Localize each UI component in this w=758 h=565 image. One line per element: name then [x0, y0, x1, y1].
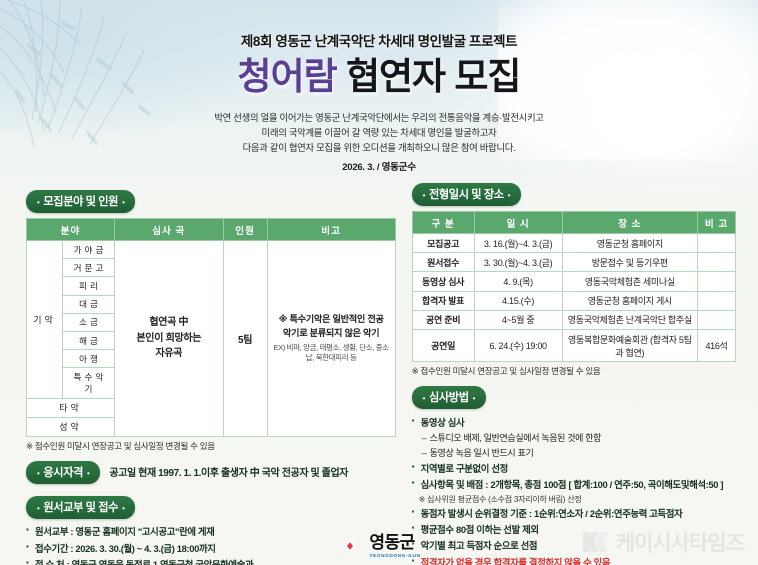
section-heading-eligibility: •응시자격• — [26, 461, 100, 484]
eligibility-text: 공고일 현재 1997. 1. 1.이후 출생자 中 국악 전공자 및 졸업자 — [109, 464, 348, 479]
schedule-kind: 모집공고 — [412, 234, 474, 253]
bullet-dot-icon: • — [423, 191, 425, 200]
song-cell: 협연곡 中 본인이 희망하는 자유곡 — [115, 241, 224, 437]
table-row: 공연 준비 4~5월 중 영동국악체험촌 난계국악단 합주실 — [412, 310, 735, 329]
schedule-remark: 416석 — [698, 330, 736, 362]
title-rest: 협연자 모집 — [346, 56, 520, 97]
remark-example: EX) 비파, 양금, 태평소, 생황, 단소, 중소납, 북한대피리 등 — [271, 343, 392, 364]
instrument-piri: 피리 — [63, 277, 115, 295]
bullet-dot-icon: • — [37, 469, 39, 478]
schedule-remark — [698, 234, 736, 253]
col-kind: 구 분 — [412, 212, 474, 234]
kicker-text: 제8회 영동군 난계국악단 차세대 명인발굴 프로젝트 — [0, 30, 758, 50]
judging-score-note: ※ 심사위원 평균점수 (소수점 3자리이하 버림) 산정 — [419, 494, 736, 505]
col-field: 분야 — [27, 219, 115, 241]
schedule-kind: 원서접수 — [412, 253, 474, 272]
schedule-place: 방문접수 및 등기우편 — [562, 253, 697, 272]
section-heading-judging-label: 심사방법 — [429, 392, 469, 404]
recruit-table: 분야 심사 곡 인원 비고 기악 가야금 협연곡 中 본인이 희망하는 자유곡 — [26, 218, 396, 437]
bullet-dot-icon: • — [122, 198, 124, 207]
schedule-date: 3. 30.(월)~4. 3.(금) — [474, 253, 562, 272]
song-line-2: 본인이 희망하는 — [136, 333, 201, 344]
judging-video-sub-2: 동영상 녹음 일시 반드시 표기 — [422, 447, 736, 461]
col-remark: 비고 — [267, 219, 395, 241]
bullet-dot-icon: • — [122, 504, 124, 513]
schedule-place: 영동국악체험촌 세미나실 — [562, 272, 697, 291]
col-datetime: 일 시 — [474, 212, 562, 234]
instrument-ajaeng: 아쟁 — [63, 350, 115, 368]
table-header-row: 구 분 일 시 장 소 비 고 — [412, 212, 735, 234]
lead-line-2: 미래의 국악계를 이끌어 갈 역량 있는 차세대 명인을 발굴하고자 — [262, 127, 497, 138]
eligibility-section: •응시자격• 공고일 현재 1997. 1. 1.이후 출생자 中 국악 전공자… — [26, 454, 396, 489]
schedule-place: 영동군청 홈페이지 게시 — [562, 291, 697, 310]
schedule-remark — [698, 253, 736, 272]
schedule-date: 6. 24.(수) 19:00 — [474, 330, 562, 362]
section-heading-application: •원서교부 및 접수• — [26, 496, 135, 519]
watermark: 케이시사타임즈 — [581, 527, 744, 557]
col-song: 심사 곡 — [115, 219, 224, 241]
schedule-remark — [698, 272, 736, 291]
title-highlight: 청어람 — [238, 56, 337, 97]
schedule-footnote: ※ 접수인원 미달시 연장공고 및 심사일정 변경될 수 있음 — [412, 365, 736, 377]
bullet-dot-icon: • — [473, 394, 475, 403]
schedule-table: 구 분 일 시 장 소 비 고 모집공고 3. 16.(월)~4. 3.(금) … — [412, 211, 736, 362]
schedule-kind: 공연 준비 — [412, 310, 474, 329]
section-heading-schedule-label: 전형일시 및 장소 — [429, 189, 504, 201]
instrument-daegeum: 대금 — [63, 295, 115, 313]
section-heading-eligibility-label: 응시자격 — [43, 467, 83, 479]
judging-score-breakdown: 심사항목 및 배점 : 2개항목, 총점 100점 [ 합계:100 / 연주:… — [412, 478, 736, 493]
watermark-text: 케이시사타임즈 — [616, 527, 744, 557]
judging-tiebreak-rule: 동점자 발생시 순위결정 기준 : 1순위:연소자 / 2순위:연주능력 고득점… — [412, 507, 736, 522]
lead-line-1: 박연 선생의 얼을 이어가는 영동군 난계국악단에서는 우리의 전통음악을 계승… — [214, 112, 543, 123]
section-heading-application-label: 원서교부 및 접수 — [43, 502, 118, 514]
instrument-geomungo: 거문고 — [63, 259, 115, 277]
schedule-remark — [698, 291, 736, 310]
schedule-place: 영동군청 홈페이지 — [562, 234, 697, 253]
table-row: 공연일 6. 24.(수) 19:00 영동복합문화예술회관 (합격자 5팀과 … — [412, 330, 735, 362]
table-row: 원서접수 3. 30.(월)~4. 3.(금) 방문접수 및 등기우편 — [412, 253, 735, 272]
logo-emblem-icon — [337, 533, 363, 559]
table-row: 동영상 심사 4. 9.(목) 영동국악체험촌 세미나실 — [412, 272, 735, 291]
song-line-1: 협연곡 中 — [149, 317, 188, 328]
instrument-special: 특수악기 — [63, 368, 115, 398]
logo-text-korean: 영동군 — [369, 533, 414, 552]
remark-line-1: ※ 특수기악은 일반적인 전공 — [279, 314, 384, 324]
section-heading-recruit-label: 모집분야 및 인원 — [43, 196, 118, 208]
judging-region-rule: 지역별로 구분없이 선정 — [412, 462, 736, 477]
bullet-dot-icon: • — [508, 191, 510, 200]
schedule-place: 영동국악체험촌 난계국악단 합주실 — [562, 310, 697, 329]
judging-video-review: 동영상 심사 — [412, 416, 736, 431]
col-remark: 비 고 — [698, 212, 736, 234]
yeongdong-gun-logo: 영동군 YEONGDONG-GUN — [337, 533, 420, 559]
col-count: 인원 — [223, 219, 267, 241]
schedule-place: 영동복합문화예술회관 (합격자 5팀과 협연) — [562, 330, 697, 362]
poster-header: 제8회 영동군 난계국악단 차세대 명인발굴 프로젝트 청어람 협연자 모집 박… — [0, 0, 758, 175]
watermark-logo-icon — [581, 529, 611, 555]
remark-cell: ※ 특수기악은 일반적인 전공 악기로 분류되지 않은 악기 EX) 비파, 양… — [267, 241, 395, 437]
judging-video-sub-1: 스튜디오 배제, 일반연습실에서 녹음된 것에 한함 — [422, 432, 736, 446]
section-heading-schedule: •전형일시 및 장소• — [412, 183, 521, 206]
bullet-dot-icon: • — [87, 469, 89, 478]
poster-root: 제8회 영동군 난계국악단 차세대 명인발굴 프로젝트 청어람 협연자 모집 박… — [0, 0, 758, 565]
schedule-date: 4. 9.(목) — [474, 272, 562, 291]
lead-paragraph: 박연 선생의 얼을 이어가는 영동군 난계국악단에서는 우리의 전통음악을 계승… — [0, 110, 758, 175]
lead-line-3: 다음과 같이 협연자 모집을 위한 오디션을 개최하오니 많은 참여 바랍니다. — [243, 142, 516, 153]
instrument-sogeum: 소금 — [63, 313, 115, 331]
group-label-instrumental: 기악 — [27, 241, 63, 399]
schedule-date: 4.15.(수) — [474, 291, 562, 310]
left-column: •모집분야 및 인원• 분야 심사 곡 인원 비고 기악 가야금 — [26, 183, 396, 565]
logo-text-english: YEONGDONG-GUN — [369, 554, 420, 559]
schedule-kind: 합격자 발표 — [412, 291, 474, 310]
song-line-3: 자유곡 — [155, 348, 182, 359]
section-heading-judging: •심사방법• — [412, 386, 486, 409]
group-label-vocal: 성악 — [27, 417, 115, 436]
schedule-remark — [698, 310, 736, 329]
col-place: 장 소 — [562, 212, 697, 234]
table-header-row: 분야 심사 곡 인원 비고 — [27, 219, 396, 241]
table-row: 모집공고 3. 16.(월)~4. 3.(금) 영동군청 홈페이지 — [412, 234, 735, 253]
signature-line: 2026. 3. / 영동군수 — [0, 160, 758, 176]
bullet-dot-icon: • — [37, 198, 39, 207]
content-columns: •모집분야 및 인원• 분야 심사 곡 인원 비고 기악 가야금 — [0, 175, 758, 565]
count-cell: 5팀 — [223, 241, 267, 437]
recruit-footnote: ※ 접수인원 미달시 연장공고 및 심사일정 변경될 수 있음 — [26, 440, 396, 452]
schedule-date: 3. 16.(월)~4. 3.(금) — [474, 234, 562, 253]
schedule-kind: 동영상 심사 — [412, 272, 474, 291]
instrument-haegeum: 해금 — [63, 332, 115, 350]
page-title: 청어람 협연자 모집 — [0, 58, 758, 97]
section-heading-recruit: •모집분야 및 인원• — [26, 190, 135, 213]
bullet-dot-icon: • — [37, 504, 39, 513]
schedule-kind: 공연일 — [412, 330, 474, 362]
bullet-dot-icon: • — [423, 394, 425, 403]
remark-line-2: 악기로 분류되지 않은 악기 — [283, 328, 379, 338]
instrument-gayageum: 가야금 — [63, 241, 115, 259]
logo-text-block: 영동군 YEONGDONG-GUN — [369, 534, 420, 559]
table-row: 합격자 발표 4.15.(수) 영동군청 홈페이지 게시 — [412, 291, 735, 310]
table-row: 기악 가야금 협연곡 中 본인이 희망하는 자유곡 5팀 ※ 특수기악은 일반적… — [27, 241, 396, 259]
right-column: •전형일시 및 장소• 구 분 일 시 장 소 비 고 모집공고 3. 16.(… — [412, 183, 736, 565]
schedule-date: 4~5월 중 — [474, 310, 562, 329]
group-label-percussion: 타악 — [27, 398, 115, 417]
